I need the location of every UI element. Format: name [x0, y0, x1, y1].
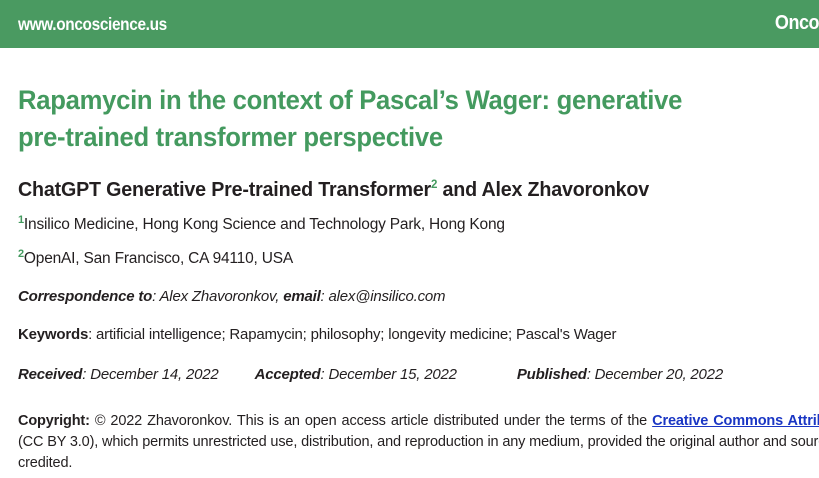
page-title: Rapamycin in the context of Pascal’s Wag…: [18, 48, 819, 156]
received-label: Received: [18, 366, 82, 383]
keywords-line: Keywords: artificial intelligence; Rapam…: [18, 309, 819, 347]
copyright-text-before-link: © 2022 Zhavoronkov. This is an open acce…: [90, 413, 652, 429]
email-label: email: [283, 288, 320, 305]
article-header-page: Rapamycin in the context of Pascal’s Wag…: [0, 48, 819, 478]
affiliation-1: 1Insilico Medicine, Hong Kong Science an…: [18, 203, 819, 237]
affiliation-2-text: OpenAI, San Francisco, CA 94110, USA: [24, 250, 293, 267]
correspondence-email[interactable]: : alex@insilico.com: [321, 288, 446, 305]
article-content-column: Rapamycin in the context of Pascal’s Wag…: [18, 48, 819, 474]
publication-dates-line: Received: December 14, 2022Accepted: Dec…: [18, 347, 819, 387]
copyright-block: Copyright: © 2022 Zhavoronkov. This is a…: [18, 387, 819, 474]
correspondence-line: Correspondence to: Alex Zhavoronkov, ema…: [18, 271, 819, 309]
author-list: ChatGPT Generative Pre-trained Transform…: [18, 156, 819, 203]
author-chatgpt: ChatGPT Generative Pre-trained Transform…: [18, 178, 431, 201]
creative-commons-license-link[interactable]: Creative Commons Attribution License: [652, 413, 819, 429]
received-date: : December 14, 2022: [82, 366, 218, 383]
masthead-inner: www.oncoscience.us: [18, 0, 819, 48]
correspondence-label: Correspondence to: [18, 288, 152, 305]
published-date: : December 20, 2022: [587, 366, 723, 383]
author-zhavoronkov: and Alex Zhavoronkov: [437, 178, 649, 201]
affiliation-2: 2OpenAI, San Francisco, CA 94110, USA: [18, 237, 819, 271]
keywords-text: : artificial intelligence; Rapamycin; ph…: [88, 326, 616, 343]
journal-website-url[interactable]: www.oncoscience.us: [18, 14, 167, 35]
journal-name: Oncoscience: [775, 12, 819, 35]
accepted-date: : December 15, 2022: [321, 366, 457, 383]
article-title-line-2: pre-trained transformer perspective: [18, 119, 819, 156]
correspondence-name: : Alex Zhavoronkov,: [152, 288, 283, 305]
copyright-last-line: credited.: [18, 453, 819, 474]
affiliation-1-text: Insilico Medicine, Hong Kong Science and…: [24, 216, 505, 233]
article-title-line-1: Rapamycin in the context of Pascal’s Wag…: [18, 85, 682, 115]
accepted-label: Accepted: [255, 366, 321, 383]
masthead-banner: www.oncoscience.us Oncoscience: [0, 0, 819, 48]
copyright-label: Copyright:: [18, 413, 90, 429]
published-label: Published: [517, 366, 587, 383]
copyright-text-after-link: (CC BY 3.0), which permits unrestricted …: [18, 434, 819, 450]
keywords-label: Keywords: [18, 326, 88, 343]
